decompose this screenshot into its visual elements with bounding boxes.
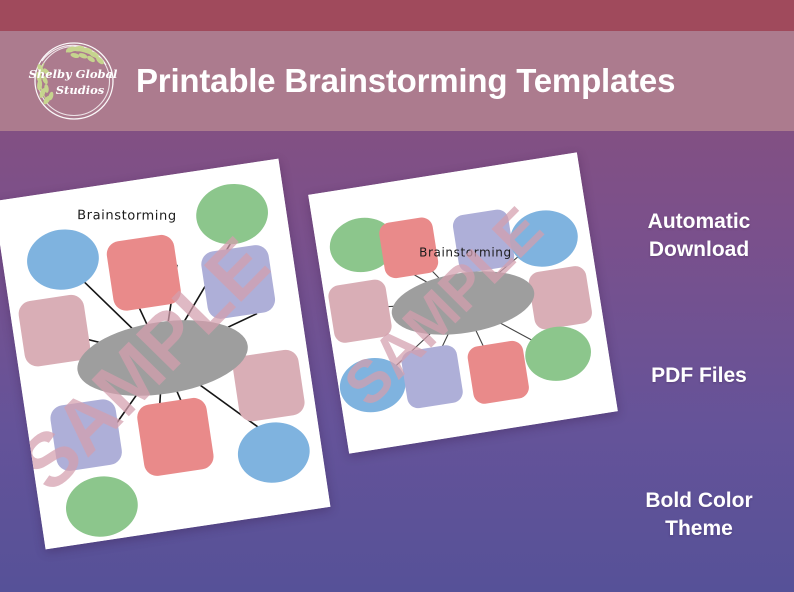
node-square-pink-left[interactable] (17, 293, 92, 368)
brand-logo: Shelby Global Studios (22, 31, 126, 131)
product-listing-image: Shelby Global Studios Printable Brainsto… (0, 0, 794, 592)
feature-automatic-download: Automatic Download (648, 208, 751, 263)
node-square-pink-r[interactable] (527, 265, 593, 331)
template-title-front: Brainstorming (77, 208, 177, 224)
feature-automatic-download-line-1: Automatic (648, 208, 751, 236)
feature-bold-color-theme-line-1: Bold Color (645, 487, 752, 515)
page-title: Printable Brainstorming Templates (136, 62, 675, 100)
feature-pdf-files-line-1: PDF Files (651, 362, 747, 390)
wreath-logo-icon: Shelby Global Studios (22, 31, 126, 131)
feature-automatic-download-line-2: Download (648, 236, 751, 264)
top-accent-strip (0, 0, 794, 31)
header: Shelby Global Studios Printable Brainsto… (0, 31, 794, 131)
feature-list: Automatic Download PDF Files Bold Color … (604, 131, 794, 592)
logo-line-1: Shelby Global (29, 67, 118, 81)
brainstorming-template-back-card[interactable]: Brainstorming SAMPLE (308, 152, 618, 453)
node-square-red-b1[interactable] (466, 339, 530, 405)
brainstorming-template-front-card[interactable]: Brainstorming SAMPLE (0, 159, 330, 550)
feature-bold-color-theme: Bold Color Theme (645, 487, 752, 542)
feature-bold-color-theme-line-2: Theme (645, 515, 752, 543)
feature-pdf-files: PDF Files (651, 362, 747, 390)
logo-line-2: Studios (56, 83, 105, 97)
